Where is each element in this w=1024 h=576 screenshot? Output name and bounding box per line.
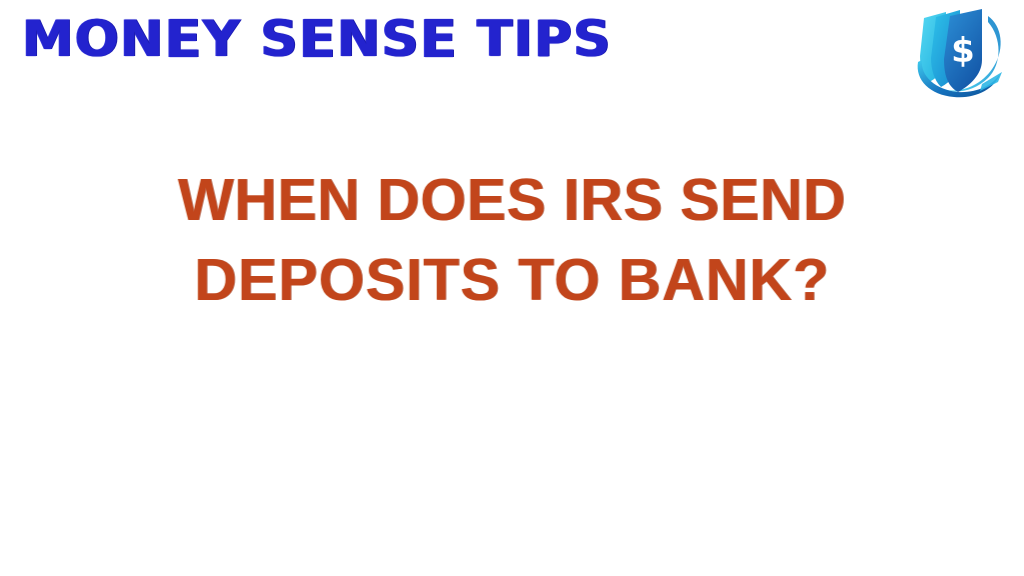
brand-wordmark-rounded-e-3: E	[420, 10, 458, 70]
brand-wordmark-rounded-e-1: E	[165, 10, 203, 70]
brand-wordmark-part-2: Y S	[203, 10, 299, 68]
headline-line-1: WHEN DOES IRS SEND	[0, 160, 1024, 240]
dollar-sign-glyph: $	[951, 31, 975, 71]
shield-front: $	[944, 9, 982, 92]
brand-wordmark-rounded-e-2: E	[299, 10, 337, 70]
headline-line-2: DEPOSITS TO BANK?	[0, 240, 1024, 320]
brand-header: MONEY SENSE TIPS	[0, 0, 1024, 110]
brand-wordmark-part-4: TIPS	[458, 10, 612, 68]
brand-wordmark: MONEY SENSE TIPS	[22, 8, 612, 70]
slide-canvas: MONEY SENSE TIPS	[0, 0, 1024, 576]
shield-dollar-orbit-logo-icon: $	[910, 2, 1010, 106]
headline-block: WHEN DOES IRS SEND DEPOSITS TO BANK?	[0, 160, 1024, 320]
brand-wordmark-part-1: MON	[22, 10, 165, 68]
brand-wordmark-part-3: NS	[337, 10, 420, 68]
